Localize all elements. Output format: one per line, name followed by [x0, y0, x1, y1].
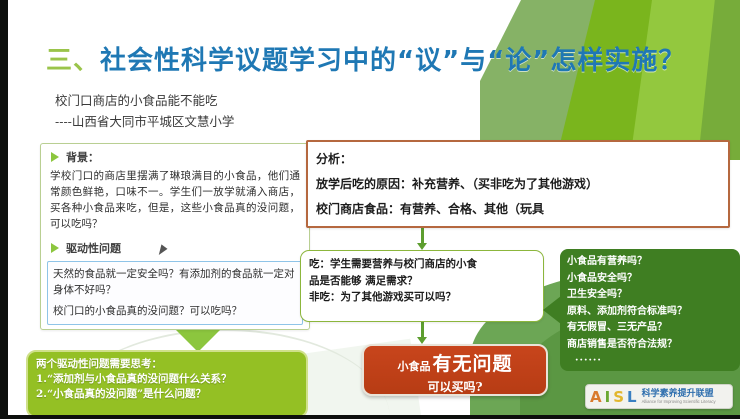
driving-question-1: 天然的食品就一定安全吗？有添加剂的食品就一定对身体不好吗？ — [53, 266, 297, 298]
top-right-green-wedges — [480, 0, 740, 160]
lime-item-1: 1.“添加剂与小食品真的没问题什么关系？ — [36, 372, 298, 387]
page-title-text: 社会性科学议题学习中的“议”与“论”怎样实施？ — [100, 46, 685, 76]
list-item: 原料、添加剂符合标准吗？ — [567, 304, 733, 321]
callout-big-text: 有无问题 — [432, 349, 512, 376]
list-item: 有无假冒、三无产品？ — [567, 320, 733, 337]
letterbox-bottom — [0, 415, 740, 419]
connector-line-2 — [421, 322, 424, 337]
page-title: 三、社会性科学议题学习中的“议”与“论”怎样实施？ — [46, 40, 685, 77]
driving-question-label: 驱动性问题 — [66, 240, 121, 256]
list-ellipsis: ······ — [567, 353, 733, 370]
question-list-bubble: 小食品有营养吗？ 小食品安全吗？ 卫生安全吗？ 原料、添加剂符合标准吗？ 有无假… — [560, 249, 740, 371]
letterbox-left — [0, 0, 8, 419]
bubble-tail — [543, 296, 561, 324]
logo-letter-a: A — [590, 388, 602, 406]
triangle-bullet-icon — [51, 243, 59, 253]
subtitle-line-2: ----山西省大同市平城区文慧小学 — [55, 111, 234, 132]
driving-question-2: 校门口的小食品真的没问题？可以吃吗？ — [53, 303, 297, 319]
list-item: 商店销售是否符合法规？ — [567, 337, 733, 354]
driving-question-box: 天然的食品就一定安全吗？有添加剂的食品就一定对身体不好吗？ 校门口的小食品真的没… — [47, 261, 303, 325]
lime-title: 两个驱动性问题需要思考： — [36, 357, 298, 372]
logo-chinese-name: 科学素养提升联盟 — [642, 389, 716, 398]
midbox-line-3: 非吃：为了其他游戏买可以吗？ — [309, 289, 535, 306]
callout-line-1: 小食品 有无问题 — [364, 349, 546, 376]
subtitle-block: 校门口商店的小食品能不能吃 ----山西省大同市平城区文慧小学 — [55, 90, 234, 132]
down-arrow-green — [176, 330, 220, 352]
aisl-logo: A I S L 科学素养提升联盟 Alliance for Improving … — [585, 384, 733, 409]
background-paragraph: 学校门口的商店里摆满了琳琅满目的小食品，他们通常颜色鲜艳，口味不一。学生们一放学… — [41, 167, 309, 235]
midbox-line-1: 吃：学生需要营养与校门商店的小食 — [309, 256, 535, 273]
list-item: 卫生安全吗？ — [567, 287, 733, 304]
driving-question-bullet-row: 驱动性问题 — [41, 235, 309, 258]
midbox-line-2: 品是否能够 满足需求？ — [309, 273, 535, 290]
callout-box: 小食品 有无问题 可以买吗? — [362, 344, 548, 396]
analysis-title: 分析： — [316, 147, 720, 172]
logo-english-name: Alliance for Improving Scientific Litera… — [642, 400, 716, 404]
callout-line-2: 可以买吗? — [364, 378, 546, 395]
eat-noneat-box: 吃：学生需要营养与校门商店的小食 品是否能够 满足需求？ 非吃：为了其他游戏买可… — [300, 250, 544, 322]
analysis-line-2: 校门商店食品：有营养、合格、其他（玩具 — [316, 197, 720, 222]
logo-chinese-block: 科学素养提升联盟 Alliance for Improving Scientif… — [642, 389, 716, 404]
list-item: 小食品有营养吗？ — [567, 254, 733, 271]
left-content-panel: 背景： 学校门口的商店里摆满了琳琅满目的小食品，他们通常颜色鲜艳，口味不一。学生… — [40, 143, 310, 330]
logo-letter-i: I — [605, 388, 611, 406]
logo-letter-s: S — [613, 388, 624, 406]
analysis-line-1: 放学后吃的原因：补充营养、（买非吃为了其他游戏） — [316, 172, 720, 197]
logo-letter-l: L — [627, 388, 637, 406]
subtitle-line-1: 校门口商店的小食品能不能吃 — [55, 90, 234, 111]
list-item: 小食品安全吗？ — [567, 271, 733, 288]
background-bullet-row: 背景： — [41, 144, 309, 167]
triangle-bullet-icon — [51, 152, 59, 162]
slide-canvas: 三、社会性科学议题学习中的“议”与“论”怎样实施？ 校门口商店的小食品能不能吃 … — [0, 0, 740, 419]
analysis-box: 分析： 放学后吃的原因：补充营养、（买非吃为了其他游戏） 校门商店食品：有营养、… — [306, 140, 730, 228]
background-label: 背景： — [66, 149, 99, 165]
driving-questions-summary-box: 两个驱动性问题需要思考： 1.“添加剂与小食品真的没问题什么关系？ 2.“小食品… — [26, 350, 308, 418]
connector-arrow-1 — [417, 243, 427, 250]
connector-arrow-2 — [417, 337, 427, 344]
page-title-number: 三、 — [46, 46, 100, 76]
connector-line-1 — [421, 228, 424, 243]
callout-prefix: 小食品 — [397, 358, 430, 374]
lime-item-2: 2.“小食品真的没问题”是什么问题？ — [36, 387, 298, 402]
